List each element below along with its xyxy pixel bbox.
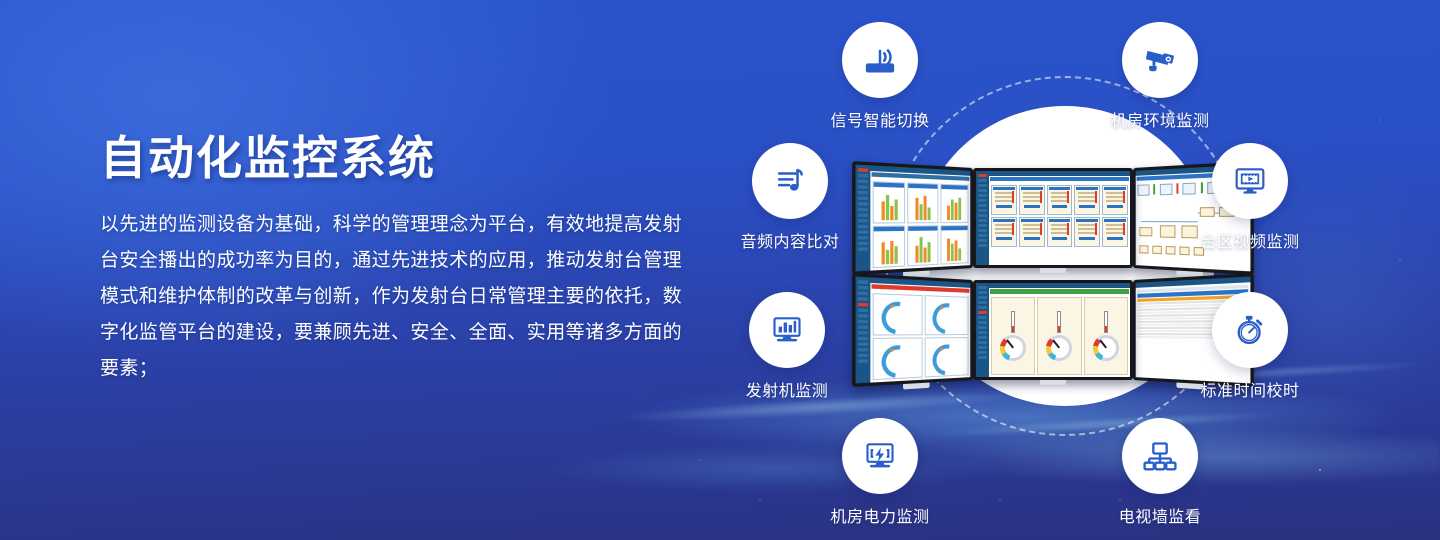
feature-audio-compare[interactable]: 音频内容比对 bbox=[715, 143, 865, 252]
feature-label: 标准时间校时 bbox=[1175, 377, 1325, 401]
feature-room-power[interactable]: 机房电力监测 bbox=[805, 418, 955, 527]
monitor-stand bbox=[1040, 268, 1066, 273]
monitor-screen-data-cards bbox=[973, 168, 1133, 268]
page-title: 自动化监控系统 bbox=[100, 132, 700, 185]
arc-gauge-grid bbox=[870, 291, 970, 383]
feature-label: 音频内容比对 bbox=[715, 228, 865, 252]
tv-wall-icon bbox=[1122, 418, 1198, 494]
monitor-stand bbox=[903, 383, 930, 390]
monitor-screen-bar-charts bbox=[852, 161, 973, 275]
power-monitor-icon bbox=[842, 418, 918, 494]
cctv-camera-icon bbox=[1122, 22, 1198, 98]
feature-time-sync[interactable]: 标准时间校时 bbox=[1175, 292, 1325, 401]
bar-chart-grid bbox=[870, 179, 970, 271]
feature-label: 发射机监测 bbox=[712, 377, 862, 401]
feature-transmitter[interactable]: 发射机监测 bbox=[712, 292, 862, 401]
banner-copy: 自动化监控系统 以先进的监测设备为基础，科学的管理理念为平台，有效地提高发射台安… bbox=[100, 132, 700, 387]
screen-sidebar bbox=[976, 171, 989, 265]
feature-signal-switch[interactable]: 信号智能切换 bbox=[805, 22, 955, 131]
bar-chart-monitor-icon bbox=[749, 292, 825, 368]
video-monitor-icon bbox=[1212, 143, 1288, 219]
audio-note-icon bbox=[752, 143, 828, 219]
banner-description: 以先进的监测设备为基础，科学的管理理念为平台，有效地提高发射台安全播出的成功率为… bbox=[100, 207, 700, 387]
feature-label: 台区视频监测 bbox=[1175, 228, 1325, 252]
dial-gauge bbox=[1000, 335, 1026, 361]
feature-tv-wall[interactable]: 电视墙监看 bbox=[1085, 418, 1235, 527]
router-icon bbox=[842, 22, 918, 98]
thermometer-dial-grid bbox=[989, 295, 1130, 377]
monitor-stand bbox=[1040, 380, 1066, 385]
status-card-grid bbox=[989, 183, 1130, 265]
banner-stage: 自动化监控系统 以先进的监测设备为基础，科学的管理理念为平台，有效地提高发射台安… bbox=[0, 0, 1440, 540]
feature-label: 电视墙监看 bbox=[1085, 503, 1235, 527]
thermometer-gauge bbox=[1011, 311, 1015, 333]
dial-gauge bbox=[1046, 335, 1072, 361]
feature-room-environment[interactable]: 机房环境监测 bbox=[1085, 22, 1235, 131]
monitor-screen-arc-gauges bbox=[852, 273, 973, 387]
thermometer-gauge bbox=[1104, 311, 1108, 333]
feature-label: 机房电力监测 bbox=[805, 503, 955, 527]
stopwatch-icon bbox=[1212, 292, 1288, 368]
thermometer-gauge bbox=[1057, 311, 1061, 333]
screen-sidebar bbox=[976, 283, 989, 377]
dial-gauge bbox=[1093, 335, 1119, 361]
feature-label: 信号智能切换 bbox=[805, 107, 955, 131]
monitor-screen-dials bbox=[973, 280, 1133, 380]
feature-area-video[interactable]: 台区视频监测 bbox=[1175, 143, 1325, 252]
feature-label: 机房环境监测 bbox=[1085, 107, 1235, 131]
